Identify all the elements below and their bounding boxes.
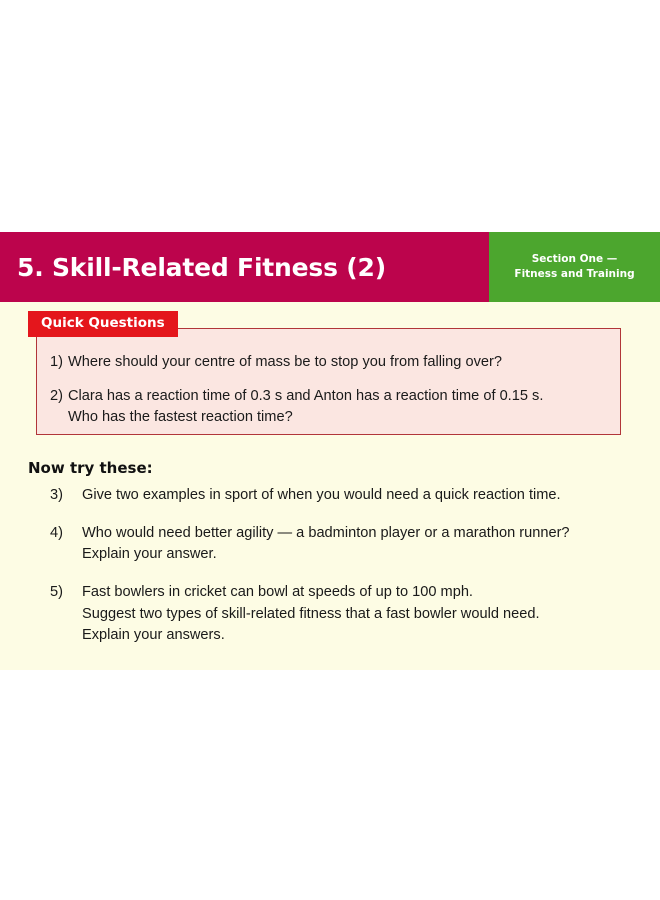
question-line: Who would need better agility — a badmin… [82,523,650,544]
now-try-these-heading: Now try these: [28,460,153,477]
question-number: 3) [50,485,82,506]
question-line: Where should your centre of mass be to s… [68,352,621,373]
page-title: 5. Skill-Related Fitness (2) [17,255,386,280]
list-item: 5) Fast bowlers in cricket can bowl at s… [50,582,650,645]
quick-questions-tab: Quick Questions [28,311,178,337]
list-item: 4) Who would need better agility — a bad… [50,523,650,565]
question-number: 5) [50,582,82,603]
question-line: Fast bowlers in cricket can bowl at spee… [82,582,650,603]
question-number: 2) [36,386,68,407]
question-line: Explain your answer. [82,544,650,565]
section-label-line-2: Fitness and Training [514,267,634,282]
question-text: Clara has a reaction time of 0.3 s and A… [68,386,621,428]
question-line: Suggest two types of skill-related fitne… [82,604,650,625]
question-number: 1) [36,352,68,373]
header-section-bar: Section One — Fitness and Training [489,232,660,302]
question-text: Fast bowlers in cricket can bowl at spee… [82,582,650,645]
list-item: 3) Give two examples in sport of when yo… [50,485,650,506]
question-line: Give two examples in sport of when you w… [82,485,650,506]
now-try-these-list: 3) Give two examples in sport of when yo… [50,485,650,646]
list-item: 1) Where should your centre of mass be t… [36,352,621,373]
header-title-bar: 5. Skill-Related Fitness (2) [0,232,489,302]
question-number: 4) [50,523,82,544]
question-line: Clara has a reaction time of 0.3 s and A… [68,386,621,407]
list-item: 2) Clara has a reaction time of 0.3 s an… [36,386,621,428]
question-text: Where should your centre of mass be to s… [68,352,621,373]
section-label-line-1: Section One — [532,252,618,267]
question-text: Who would need better agility — a badmin… [82,523,650,565]
question-line: Explain your answers. [82,625,650,646]
question-text: Give two examples in sport of when you w… [82,485,650,506]
question-line: Who has the fastest reaction time? [68,407,621,428]
quick-questions-list: 1) Where should your centre of mass be t… [36,352,621,428]
page-header-banner: 5. Skill-Related Fitness (2) Section One… [0,232,660,302]
